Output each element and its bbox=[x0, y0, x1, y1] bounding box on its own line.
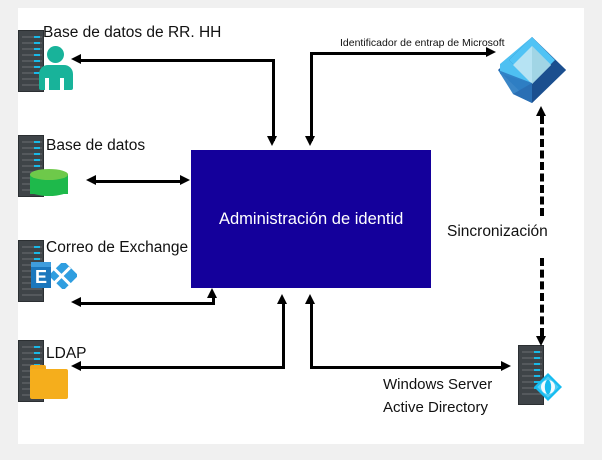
exchange-diamond-icon bbox=[51, 263, 77, 289]
diagram-root: Administración de identid Base bbox=[0, 0, 602, 460]
active-directory-badge-icon bbox=[534, 373, 562, 401]
active-directory-node bbox=[518, 345, 578, 411]
active-directory-label-line2: Active Directory bbox=[383, 399, 488, 416]
database-label: Base de datos bbox=[46, 137, 145, 155]
exchange-label: Correo de Exchange bbox=[46, 239, 188, 257]
exchange-letter: E bbox=[35, 268, 47, 286]
entra-id-label: Identificador de entrap de Microsoft bbox=[340, 37, 505, 49]
microsoft-entra-id-icon bbox=[495, 34, 569, 106]
identity-management-box: Administración de identid bbox=[191, 150, 431, 288]
folder-icon bbox=[30, 365, 74, 405]
exchange-icon: E bbox=[31, 260, 81, 292]
database-cylinder-icon bbox=[30, 169, 70, 201]
active-directory-label-line1: Windows Server bbox=[383, 376, 492, 393]
identity-management-label: Administración de identid bbox=[219, 210, 403, 229]
sincronizacion-label: Sincronización bbox=[447, 223, 548, 241]
diagram-canvas: Administración de identid Base bbox=[18, 8, 584, 444]
hr-database-label: Base de datos de RR. HH bbox=[43, 24, 221, 42]
